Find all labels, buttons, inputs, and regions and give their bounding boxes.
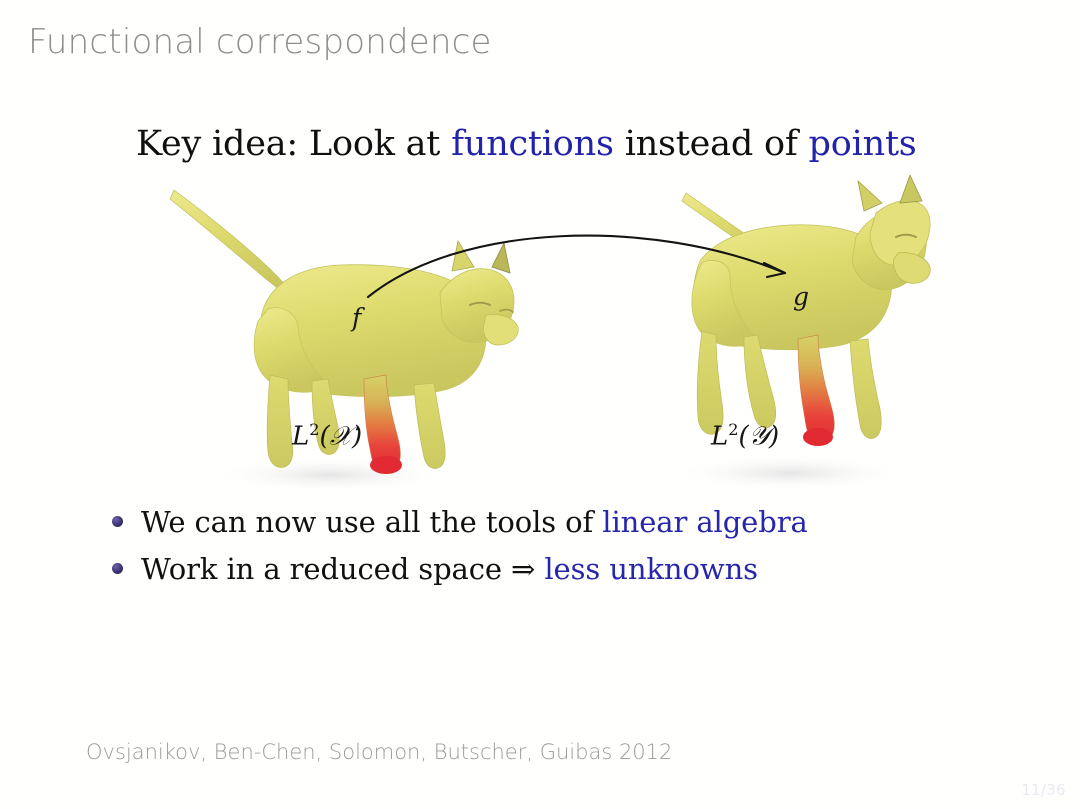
- slide: Functional correspondence Key idea: Look…: [0, 0, 1080, 809]
- bullet-text: We can now use all the tools of linear a…: [141, 505, 808, 539]
- figure-functional-correspondence: [0, 175, 1080, 495]
- bullet-text: Work in a reduced space ⇒ less unknowns: [141, 552, 758, 586]
- label-l2-x-arg: (𝒳): [320, 422, 363, 452]
- bullet-1-before: Work in a reduced space ⇒: [141, 552, 544, 586]
- key-idea-part2: instead of: [614, 124, 809, 164]
- label-f: f: [352, 303, 361, 332]
- key-idea-line: Key idea: Look at functions instead of p…: [136, 124, 917, 164]
- dog-heat-leg: [798, 335, 834, 443]
- label-l2-x-exp: 2: [309, 420, 319, 439]
- bullet-list: We can now use all the tools of linear a…: [112, 505, 1012, 599]
- citation: Ovsjanikov, Ben-Chen, Solomon, Butscher,…: [86, 740, 672, 764]
- label-l2-y-arg: (𝒴): [739, 422, 780, 452]
- label-l2-x-L: L: [292, 422, 309, 452]
- bullet-0-highlight: linear algebra: [602, 505, 807, 539]
- key-idea-highlight-functions: functions: [451, 124, 614, 164]
- label-l2-y-L: L: [711, 422, 728, 452]
- key-idea-highlight-points: points: [809, 124, 917, 164]
- list-item: Work in a reduced space ⇒ less unknowns: [112, 552, 1012, 586]
- bullet-dot-icon: [112, 563, 123, 574]
- label-g: g: [793, 282, 809, 311]
- bullet-1-highlight: less unknowns: [544, 552, 758, 586]
- bullet-dot-icon: [112, 516, 123, 527]
- key-idea-part1: Key idea: Look at: [136, 124, 451, 164]
- label-l2-y-exp: 2: [728, 420, 738, 439]
- page-title: Functional correspondence: [28, 22, 492, 62]
- list-item: We can now use all the tools of linear a…: [112, 505, 1012, 539]
- bullet-0-before: We can now use all the tools of: [141, 505, 602, 539]
- mesh-illustration: [0, 175, 1080, 495]
- label-l2-y: L2(𝒴): [711, 420, 779, 453]
- label-l2-x: L2(𝒳): [292, 420, 362, 453]
- page-counter: 11/36: [1021, 781, 1066, 799]
